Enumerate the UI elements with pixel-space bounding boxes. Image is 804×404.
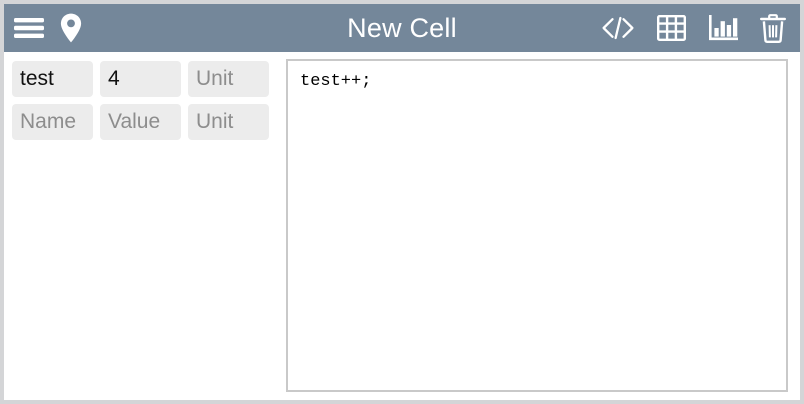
menu-icon[interactable]: [14, 17, 44, 39]
app-window: New Cell: [0, 0, 804, 404]
code-editor-text[interactable]: test++;: [300, 71, 774, 94]
trash-icon[interactable]: [760, 14, 786, 43]
variable-value-input[interactable]: 4: [100, 61, 181, 97]
code-editor[interactable]: test++;: [286, 59, 788, 392]
bar-chart-icon[interactable]: [708, 15, 738, 41]
titlebar-left-icons: [14, 13, 82, 43]
variable-value-input[interactable]: Value: [100, 104, 181, 140]
variable-row: test 4 Unit: [12, 61, 282, 97]
titlebar: New Cell: [4, 4, 800, 52]
variable-name-input[interactable]: test: [12, 61, 93, 97]
variables-panel: test 4 Unit Name Value Unit: [4, 52, 282, 400]
variable-row: Name Value Unit: [12, 104, 282, 140]
location-pin-icon[interactable]: [60, 13, 82, 43]
variable-name-input[interactable]: Name: [12, 104, 93, 140]
table-icon[interactable]: [657, 15, 686, 41]
variable-unit-input[interactable]: Unit: [188, 104, 269, 140]
content-area: test 4 Unit Name Value Unit test++;: [4, 52, 800, 400]
titlebar-right-icons: [601, 14, 790, 43]
code-icon[interactable]: [601, 16, 635, 40]
variable-unit-input[interactable]: Unit: [188, 61, 269, 97]
